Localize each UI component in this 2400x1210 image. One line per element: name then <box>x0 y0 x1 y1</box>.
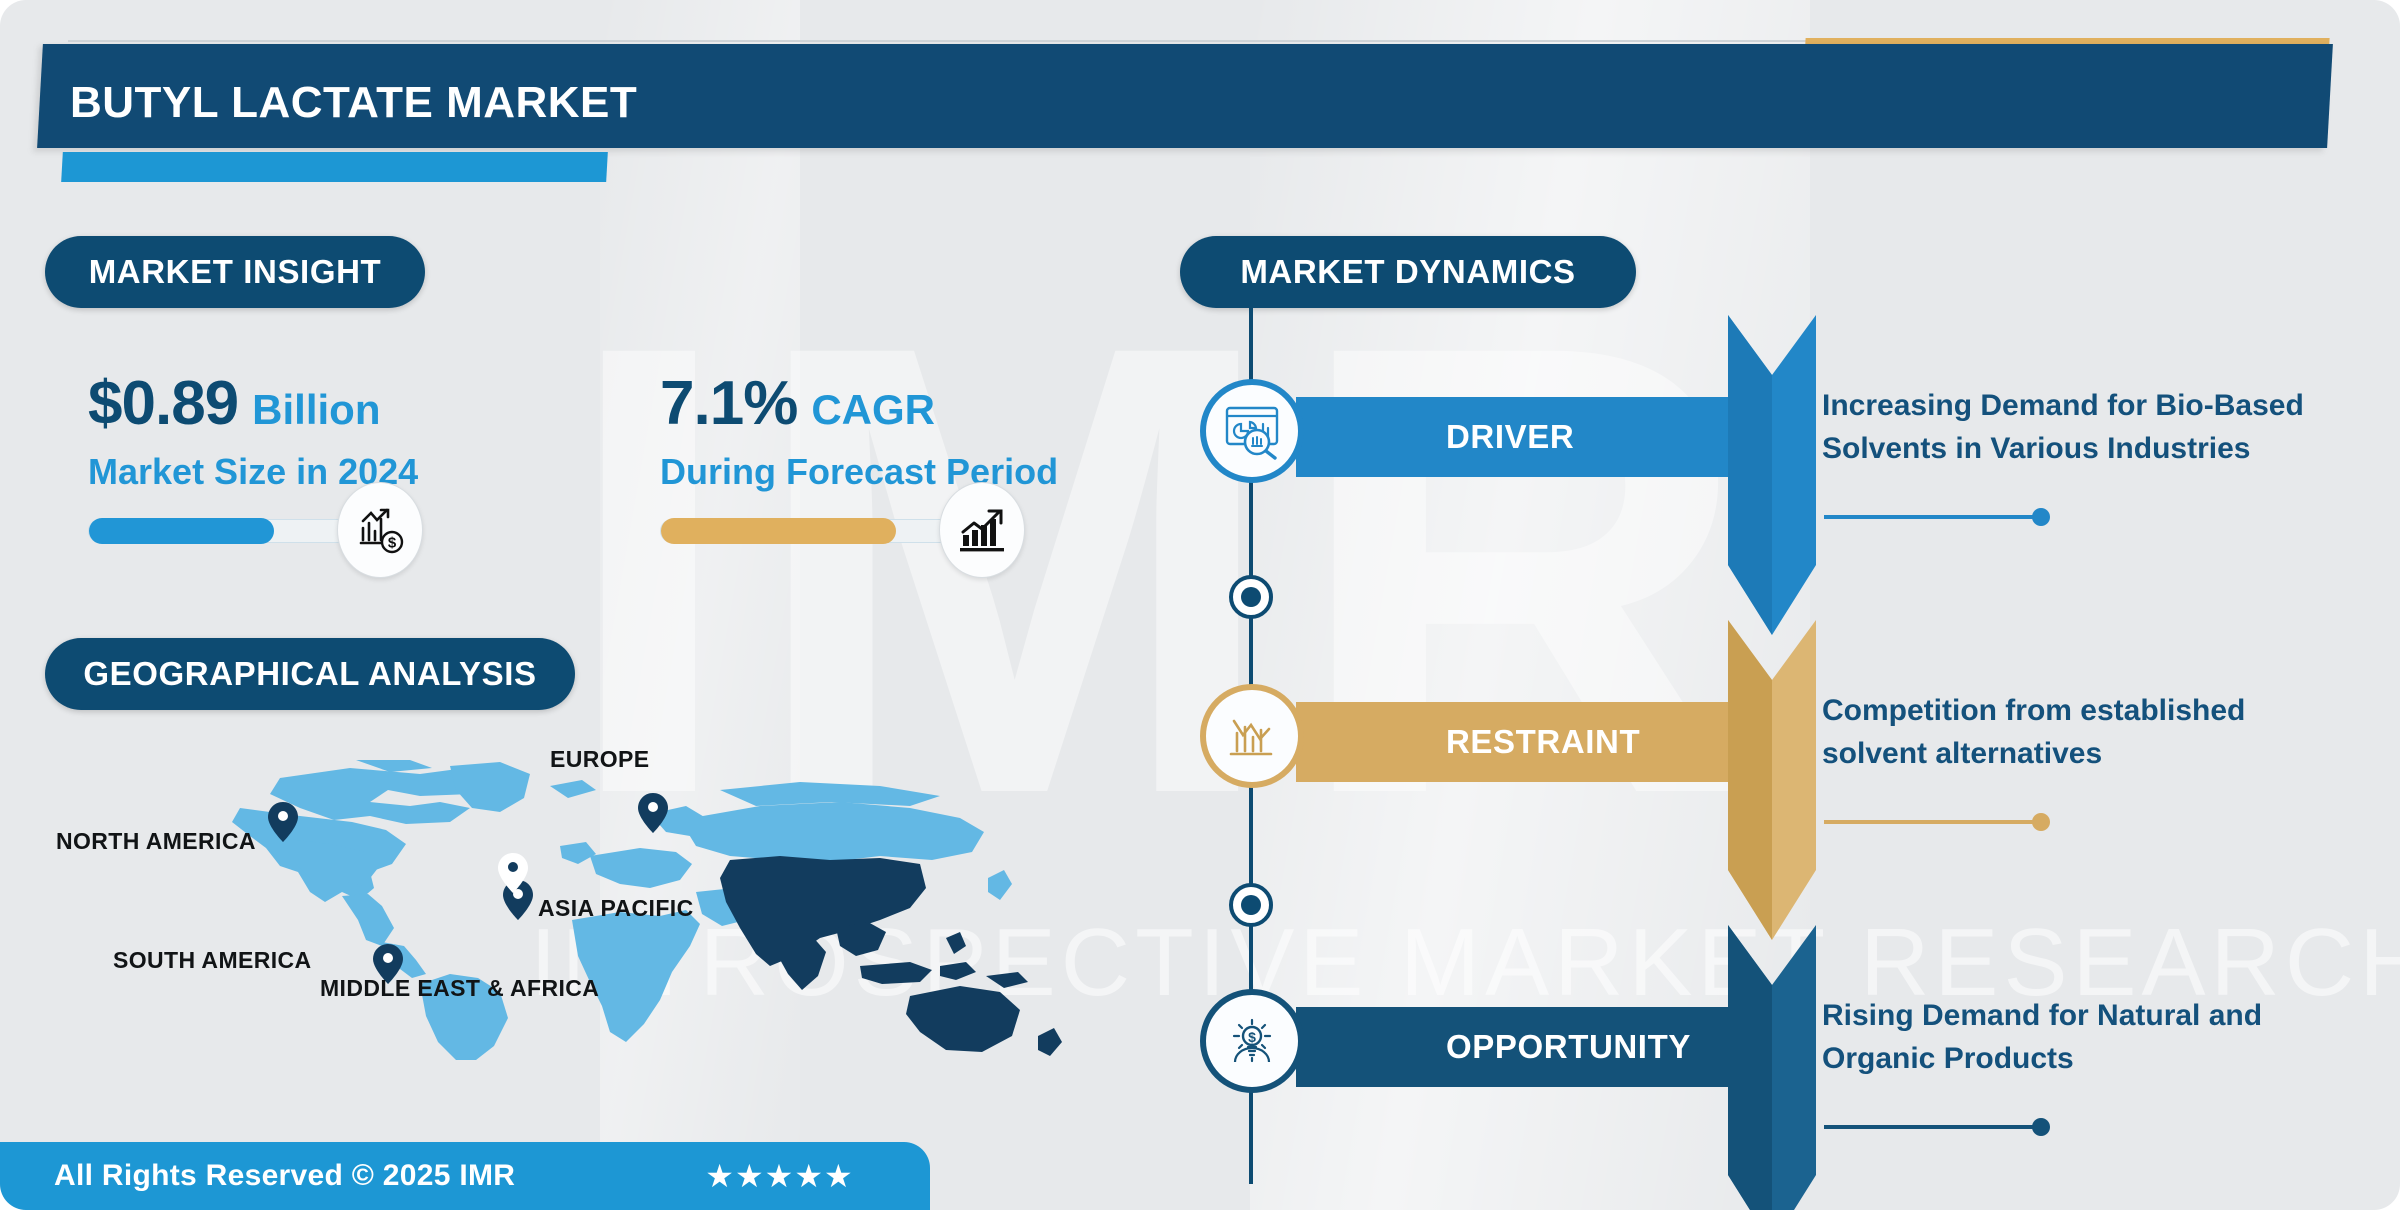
restraint-chevron-ribbon <box>1728 620 1816 940</box>
restraint-bar: RESTRAINT <box>1296 702 1728 782</box>
opportunity-end-dot <box>2032 1118 2050 1136</box>
map-label-north-america: NORTH AMERICA <box>56 828 256 855</box>
driver-chevron-ribbon <box>1728 315 1816 635</box>
restraint-end-dot <box>2032 813 2050 831</box>
kpi-cagr-progress-fill <box>661 518 896 544</box>
driver-text: Increasing Demand for Bio-Based Solvents… <box>1822 385 2400 470</box>
kpi-cagr-value: 7.1% <box>660 368 797 439</box>
opportunity-label: OPPORTUNITY <box>1446 1028 1691 1066</box>
driver-label: DRIVER <box>1446 418 1574 456</box>
geographical-analysis-pill-label: GEOGRAPHICAL ANALYSIS <box>83 655 536 693</box>
kpi-market-size-value: $0.89 <box>88 368 238 439</box>
opportunity-rule <box>1824 1125 2038 1129</box>
map-landmass-highlight <box>720 856 1062 1056</box>
header-underline-accent <box>61 152 608 182</box>
opportunity-chevron-ribbon <box>1728 925 1816 1210</box>
map-pin-north-america <box>268 802 298 842</box>
driver-text-line-2: Solvents in Various Industries <box>1822 428 2400 471</box>
restraint-label: RESTRAINT <box>1446 723 1640 761</box>
dynamics-timeline-node <box>1229 575 1273 619</box>
market-insight-pill-label: MARKET INSIGHT <box>89 253 382 291</box>
growth-arrow-chart-icon <box>939 482 1025 578</box>
kpi-cagr-progress-track <box>660 519 960 543</box>
map-pin-europe <box>638 793 668 833</box>
map-label-middle-east-africa: MIDDLE EAST & AFRICA <box>320 975 599 1002</box>
kpi-market-size-progress-track: $ <box>88 519 388 543</box>
page-title: BUTYL LACTATE MARKET <box>70 78 637 128</box>
dynamics-timeline-node <box>1229 883 1273 927</box>
opportunity-text-line-1: Rising Demand for Natural and <box>1822 995 2400 1038</box>
kpi-cagr-headline: 7.1%CAGR <box>660 368 1058 439</box>
infographic-root: IMR INTROSPECTIVE MARKET RESEARCH BUTYL … <box>0 0 2400 1210</box>
kpi-market-size-progress-fill <box>89 518 274 544</box>
geographical-analysis-pill: GEOGRAPHICAL ANALYSIS <box>45 638 575 710</box>
restraint-text-line-1: Competition from established <box>1822 690 2400 733</box>
declining-bar-chart-icon <box>1200 684 1304 788</box>
kpi-market-size-headline: $0.89Billion <box>88 368 418 439</box>
map-label-asia-pacific: ASIA PACIFIC <box>538 895 694 922</box>
map-label-europe: EUROPE <box>550 746 650 773</box>
driver-rule <box>1824 515 2038 519</box>
market-insight-pill: MARKET INSIGHT <box>45 236 425 308</box>
svg-text:$: $ <box>1248 1029 1256 1045</box>
restraint-rule <box>1824 820 2038 824</box>
kpi-market-size-unit: Billion <box>252 386 380 434</box>
world-map: NORTH AMERICA SOUTH AMERICA EUROPE ASIA … <box>120 760 1120 1180</box>
driver-end-dot <box>2032 508 2050 526</box>
star-rating-icon: ★★★★★ <box>705 1157 853 1195</box>
restraint-text-line-2: solvent alternatives <box>1822 733 2400 776</box>
driver-bar: DRIVER <box>1296 397 1728 477</box>
lightbulb-dollar-icon: $ <box>1200 989 1304 1093</box>
copyright-text: All Rights Reserved © 2025 IMR <box>54 1159 515 1193</box>
opportunity-text: Rising Demand for Natural and Organic Pr… <box>1822 995 2400 1080</box>
map-pin-asia-pacific <box>498 853 528 893</box>
market-dynamics-pill-label: MARKET DYNAMICS <box>1240 253 1575 291</box>
footer-bar: All Rights Reserved © 2025 IMR ★★★★★ <box>0 1142 930 1210</box>
map-label-south-america: SOUTH AMERICA <box>113 947 312 974</box>
kpi-cagr-unit: CAGR <box>811 386 935 434</box>
dashboard-magnifier-icon <box>1200 379 1304 483</box>
header-hairline <box>68 40 1876 42</box>
market-dynamics-pill: MARKET DYNAMICS <box>1180 236 1636 308</box>
restraint-text: Competition from established solvent alt… <box>1822 690 2400 775</box>
kpi-cagr: 7.1%CAGR During Forecast Period <box>660 368 1058 543</box>
opportunity-bar: OPPORTUNITY <box>1296 1007 1728 1087</box>
opportunity-text-line-2: Organic Products <box>1822 1038 2400 1081</box>
driver-text-line-1: Increasing Demand for Bio-Based <box>1822 385 2400 428</box>
svg-text:$: $ <box>388 535 397 552</box>
bar-chart-dollar-icon: $ <box>337 482 423 578</box>
kpi-market-size: $0.89Billion Market Size in 2024 $ <box>88 368 418 543</box>
